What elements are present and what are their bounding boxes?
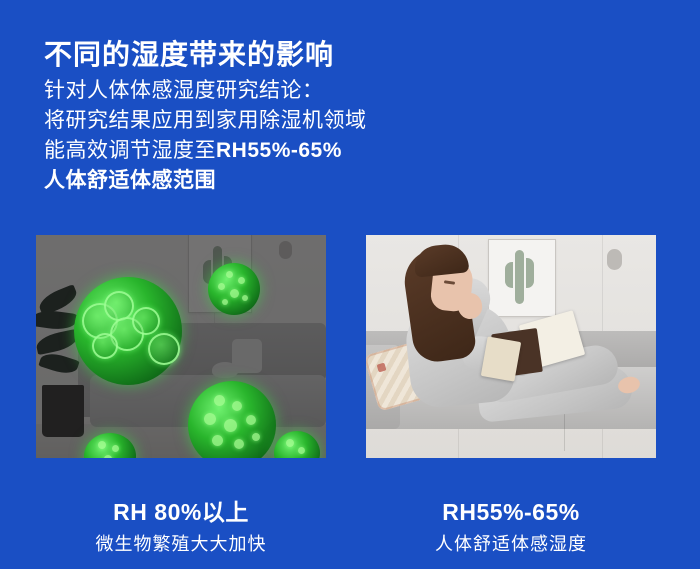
germ-bump (226, 271, 233, 278)
humidity-range-highlight: RH55%-65% (216, 139, 342, 162)
germ-bump (246, 415, 256, 425)
germ-bump (286, 439, 294, 447)
pillow-motif (377, 363, 387, 373)
germ-spore (148, 333, 180, 365)
germ-bump (234, 439, 244, 449)
panel-high-humidity-image (36, 235, 326, 458)
intro-line-4: 人体舒适体感范围 (44, 166, 367, 196)
intro-line-3: 能高效调节湿度至RH55%-65% (44, 136, 367, 166)
wall-sensor-icon (607, 249, 622, 270)
germ-bump (222, 299, 228, 305)
germ-bump (218, 283, 225, 290)
germ-bump (112, 445, 119, 452)
germ-bump (212, 435, 223, 446)
germ-bump (104, 455, 112, 458)
germ-cluster-large (74, 277, 182, 385)
intro-line-2: 将研究结果应用到家用除湿机领域 (44, 106, 367, 136)
intro-line-3-prefix: 能高效调节湿度至 (44, 139, 216, 162)
wall-art-frame (488, 239, 556, 317)
germ-bump (204, 413, 216, 425)
germ-bump (232, 401, 242, 411)
caption-title: RH55%-65% (366, 498, 656, 526)
germ-bump (214, 395, 225, 406)
cactus-arm-right-icon (526, 258, 534, 288)
germ-bump (252, 433, 260, 441)
caption-subtitle: 微生物繁殖大大加快 (36, 532, 326, 556)
panel-comfort-humidity-image (366, 235, 656, 458)
germ-cluster-small (208, 263, 260, 315)
sofa-seam (564, 413, 565, 451)
germ-bump (238, 277, 245, 284)
germ-room-scene (36, 235, 326, 458)
germ-spore (92, 333, 118, 359)
germ-bump (224, 419, 237, 432)
caption-high-humidity: RH 80%以上 微生物繁殖大大加快 (36, 498, 326, 556)
page-title: 不同的湿度带来的影响 (44, 36, 334, 74)
germ-spore (132, 307, 160, 335)
germ-bump (98, 441, 106, 449)
cactus-icon (515, 250, 524, 304)
caption-title: RH 80%以上 (36, 498, 326, 526)
humidity-comparison-poster: 不同的湿度带来的影响 针对人体体感湿度研究结论： 将研究结果应用到家用除湿机领域… (0, 0, 700, 569)
caption-comfort-humidity: RH55%-65% 人体舒适体感湿度 (366, 498, 656, 556)
book-page-left (481, 336, 521, 381)
intro-paragraph: 针对人体体感湿度研究结论： 将研究结果应用到家用除湿机领域 能高效调节湿度至RH… (44, 76, 367, 196)
intro-line-1: 针对人体体感湿度研究结论： (44, 76, 367, 106)
comparison-panels (0, 235, 700, 458)
germ-bump (298, 447, 305, 454)
germ-bump (242, 295, 248, 301)
comfort-room-scene (366, 235, 656, 458)
cactus-arm-left-icon (505, 262, 513, 288)
germ-bump (230, 289, 239, 298)
caption-subtitle: 人体舒适体感湿度 (366, 532, 656, 556)
